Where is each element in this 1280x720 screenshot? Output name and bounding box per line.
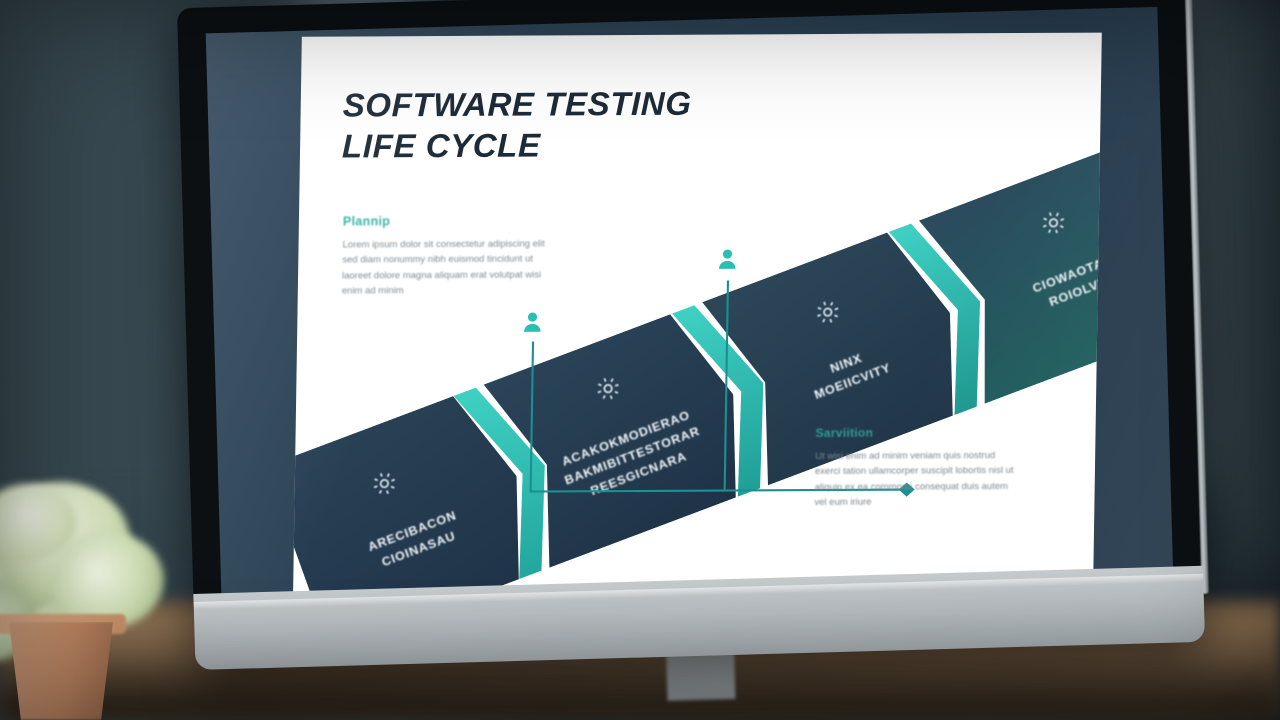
- potted-plant: [0, 470, 189, 720]
- photo-scene: SOFTWARE TESTING LIFE CYCLE Plannip Lore…: [0, 0, 1280, 720]
- plant-pot: [2, 622, 120, 720]
- chevron-stage-1-label: ARECIBACON CIOINASAU: [300, 482, 531, 593]
- chevron-stage-2-label: ACAKOKMODIERAO BAKMIBITTESTORAR REESGICN…: [515, 389, 751, 523]
- left-description-block: Plannip Lorem ipsum dolor sit consectetu…: [342, 213, 558, 299]
- gear-icon: [590, 371, 626, 407]
- presentation-slide: SOFTWARE TESTING LIFE CYCLE Plannip Lore…: [293, 33, 1102, 593]
- right-description-heading: Sarviition: [815, 425, 1015, 440]
- left-description-heading: Plannip: [343, 213, 558, 228]
- right-description-block: Sarviition Ut wisi enim ad minim veniam …: [814, 425, 1015, 511]
- title-line-2: LIFE CYCLE: [342, 123, 823, 167]
- monitor-screen: SOFTWARE TESTING LIFE CYCLE Plannip Lore…: [206, 7, 1173, 599]
- right-description-body: Ut wisi enim ad minim veniam quis nostru…: [814, 448, 1015, 511]
- person-icon: [524, 312, 541, 331]
- page-title: SOFTWARE TESTING LIFE CYCLE: [342, 82, 823, 167]
- gear-icon: [367, 465, 403, 501]
- person-icon: [719, 249, 736, 268]
- gear-icon: [810, 294, 846, 330]
- left-description-body: Lorem ipsum dolor sit consectetur adipis…: [342, 236, 558, 299]
- title-line-1: SOFTWARE TESTING: [342, 85, 691, 124]
- background-wall-left: [0, 0, 200, 520]
- chevron-process-band: ARECIBACON CIOINASAU: [293, 105, 1102, 593]
- background-edge-band: [1222, 0, 1280, 560]
- computer-monitor: SOFTWARE TESTING LIFE CYCLE Plannip Lore…: [177, 0, 1205, 668]
- gear-icon: [1036, 205, 1072, 241]
- chevron-stage-3-label: NINX MOEIICVITY: [736, 315, 963, 431]
- chevron-label-line: CIOINASAU: [306, 499, 531, 592]
- desk-shadow: [0, 662, 1280, 720]
